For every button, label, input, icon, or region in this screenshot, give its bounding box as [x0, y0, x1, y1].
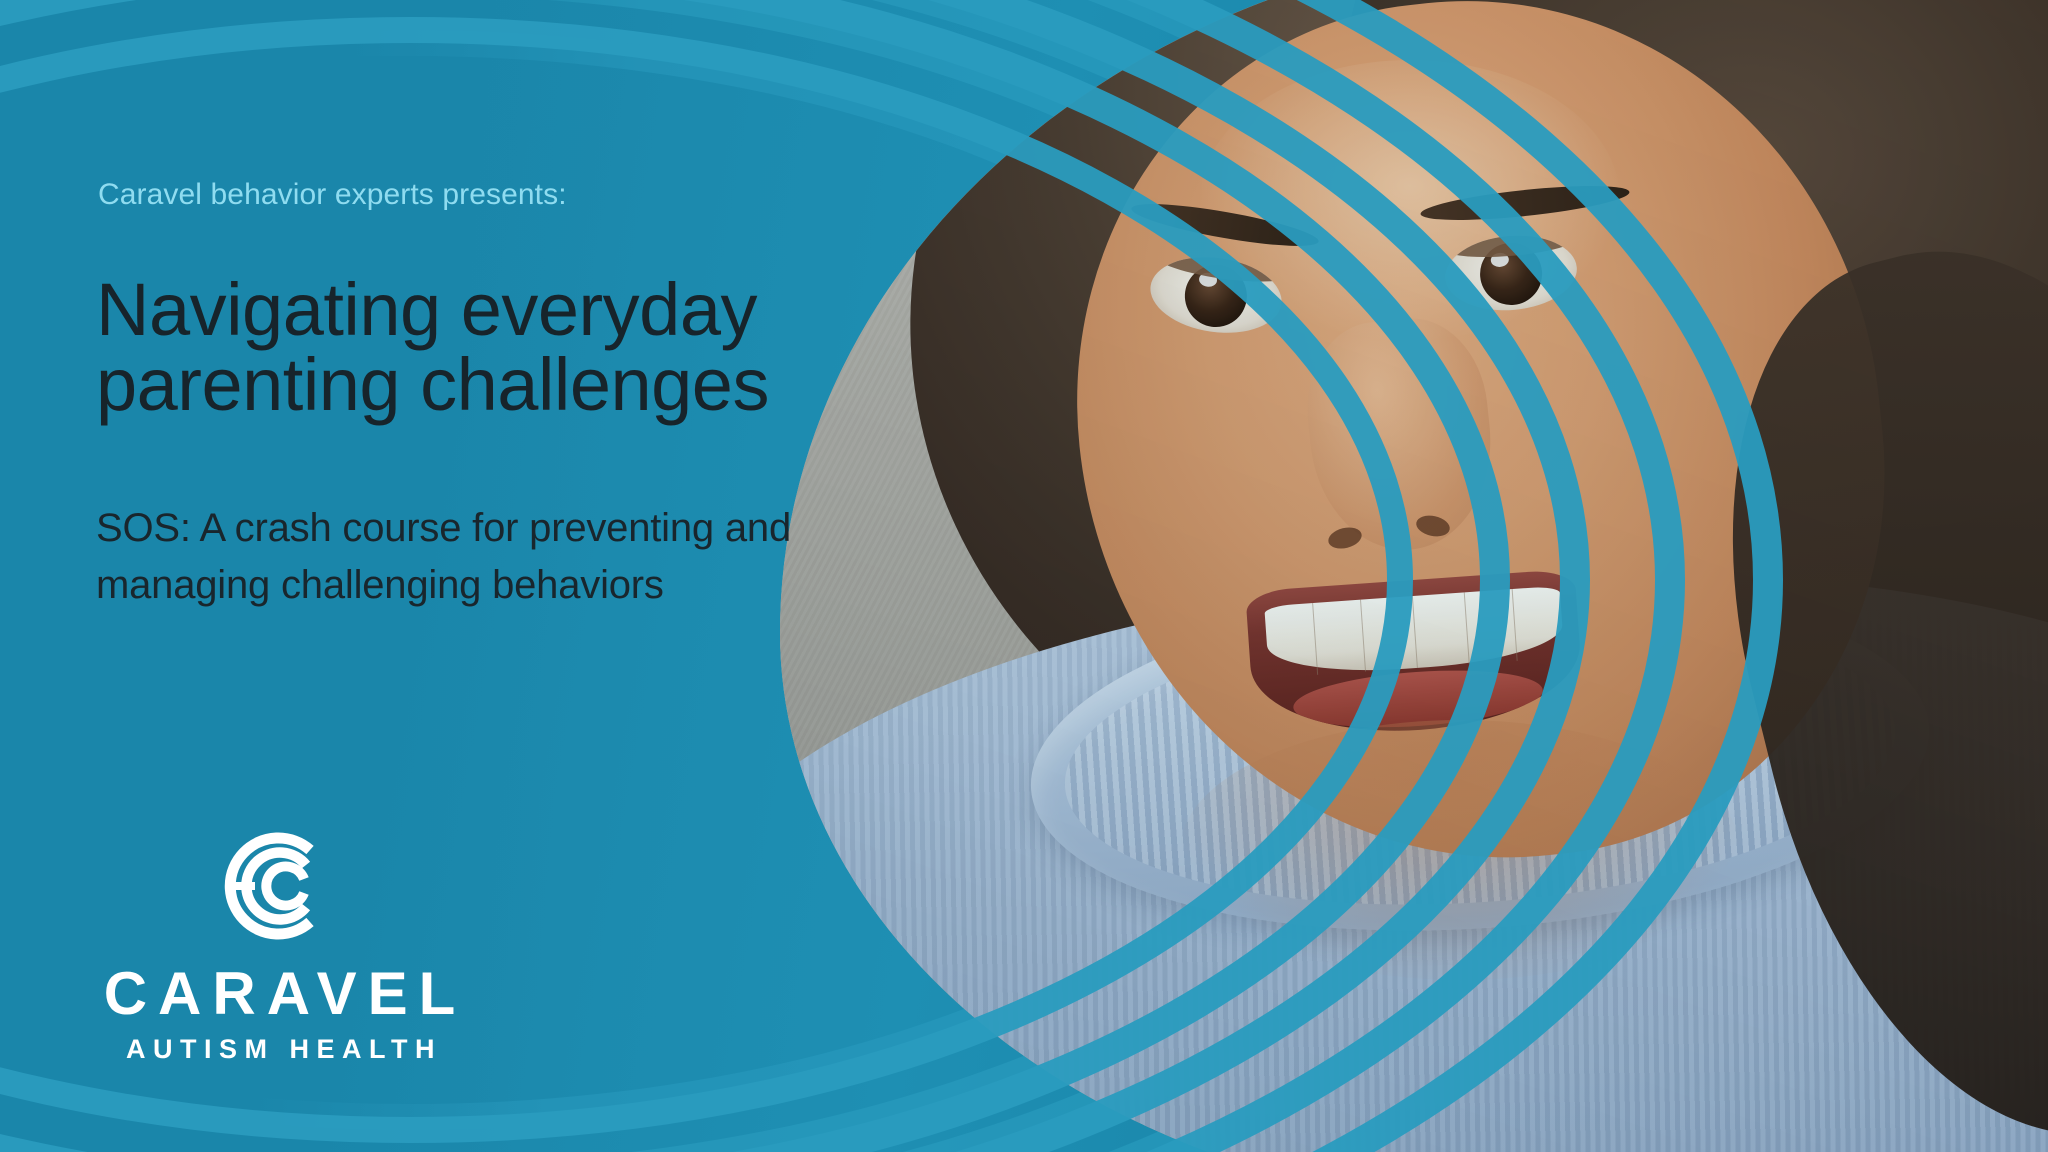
- presentation-title-slide: Caravel behavior experts presents: Navig…: [0, 0, 2048, 1152]
- page-title: Navigating everyday parenting challenges: [96, 272, 856, 423]
- subtitle-line-1: SOS: A crash course for preventing and: [96, 500, 946, 557]
- title-line-2: parenting challenges: [96, 347, 856, 422]
- caravel-logo: CARAVEL AUTISM HEALTH: [90, 822, 470, 1063]
- caravel-concentric-c-icon: [206, 822, 334, 950]
- logo-wordmark: CARAVEL: [90, 964, 470, 1024]
- subtitle: SOS: A crash course for preventing and m…: [96, 500, 946, 614]
- concentric-c-mark-svg: [206, 822, 334, 950]
- title-line-1: Navigating everyday: [96, 272, 856, 347]
- subtitle-line-2: managing challenging behaviors: [96, 557, 946, 614]
- eyebrow-text: Caravel behavior experts presents:: [98, 178, 567, 212]
- logo-tagline: AUTISM HEALTH: [90, 1036, 470, 1063]
